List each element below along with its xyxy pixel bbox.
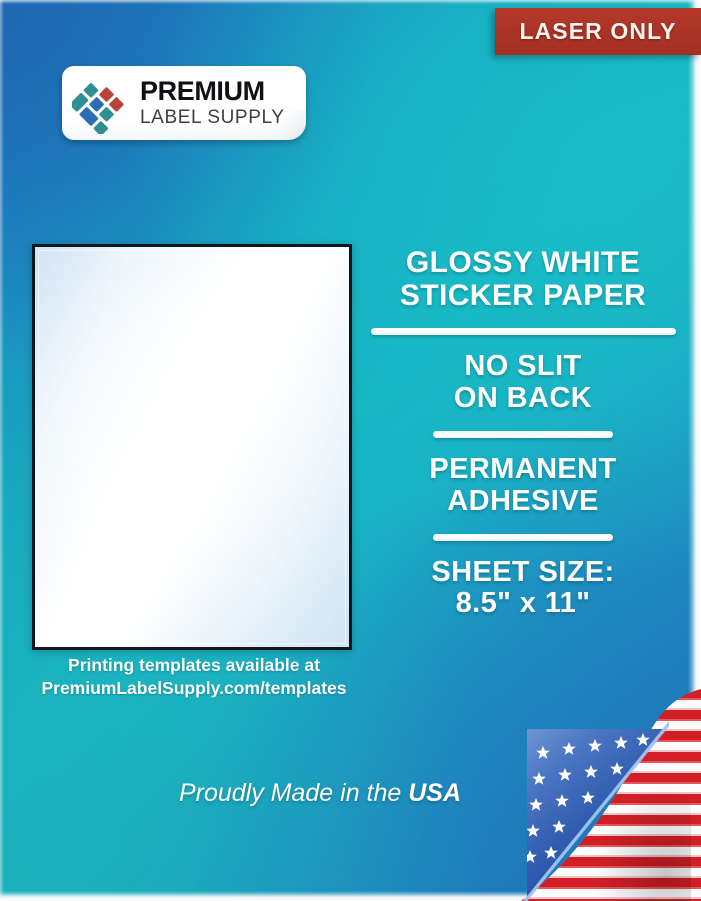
- laser-only-label: LASER ONLY: [519, 18, 676, 45]
- spec-divider-1: [371, 328, 676, 335]
- spec-product-line1: GLOSSY WHITE: [370, 246, 676, 279]
- spec-adhesive-line2: ADHESIVE: [370, 486, 676, 518]
- brand-logo-wordmark: PREMIUM LABEL SUPPLY: [140, 78, 285, 129]
- made-in-usa-tagline: Proudly Made in the USA: [120, 779, 520, 808]
- spec-slit-line2: ON BACK: [370, 383, 676, 415]
- diamond-squares-icon: [72, 72, 134, 134]
- spec-block-product: GLOSSY WHITE STICKER PAPER: [370, 246, 676, 312]
- spec-size-line1: SHEET SIZE:: [370, 557, 676, 589]
- templates-note: Printing templates available at PremiumL…: [14, 654, 374, 700]
- brand-logo-badge: PREMIUM LABEL SUPPLY: [62, 66, 306, 140]
- sheet-inner-border: [38, 250, 346, 644]
- us-flag-corner-peel-icon: [521, 689, 701, 901]
- page-edge-top: [0, 0, 701, 4]
- made-in-usa-prefix: Proudly Made in the: [179, 779, 408, 807]
- spec-list: GLOSSY WHITE STICKER PAPER NO SLIT ON BA…: [370, 246, 676, 620]
- brand-name-secondary: LABEL SUPPLY: [140, 107, 285, 129]
- product-package-image: LASER ONLY PREMIUM LABEL SUPPLY: [0, 0, 701, 901]
- spec-divider-2: [433, 431, 613, 438]
- sheet-preview: [32, 244, 352, 650]
- spec-adhesive-line1: PERMANENT: [370, 454, 676, 486]
- spec-product-line2: STICKER PAPER: [370, 279, 676, 312]
- spec-divider-3: [433, 534, 613, 541]
- spec-size-line2: 8.5" x 11": [370, 588, 676, 620]
- spec-block-slit: NO SLIT ON BACK: [370, 351, 676, 415]
- brand-name-primary: PREMIUM: [140, 78, 285, 105]
- spec-block-adhesive: PERMANENT ADHESIVE: [370, 454, 676, 518]
- templates-note-line2: PremiumLabelSupply.com/templates: [14, 677, 374, 700]
- laser-only-banner: LASER ONLY: [495, 8, 701, 55]
- templates-note-line1: Printing templates available at: [14, 654, 374, 677]
- page-edge-left: [0, 0, 4, 901]
- made-in-usa-emphasis: USA: [408, 779, 461, 807]
- spec-slit-line1: NO SLIT: [370, 351, 676, 383]
- spec-block-size: SHEET SIZE: 8.5" x 11": [370, 557, 676, 621]
